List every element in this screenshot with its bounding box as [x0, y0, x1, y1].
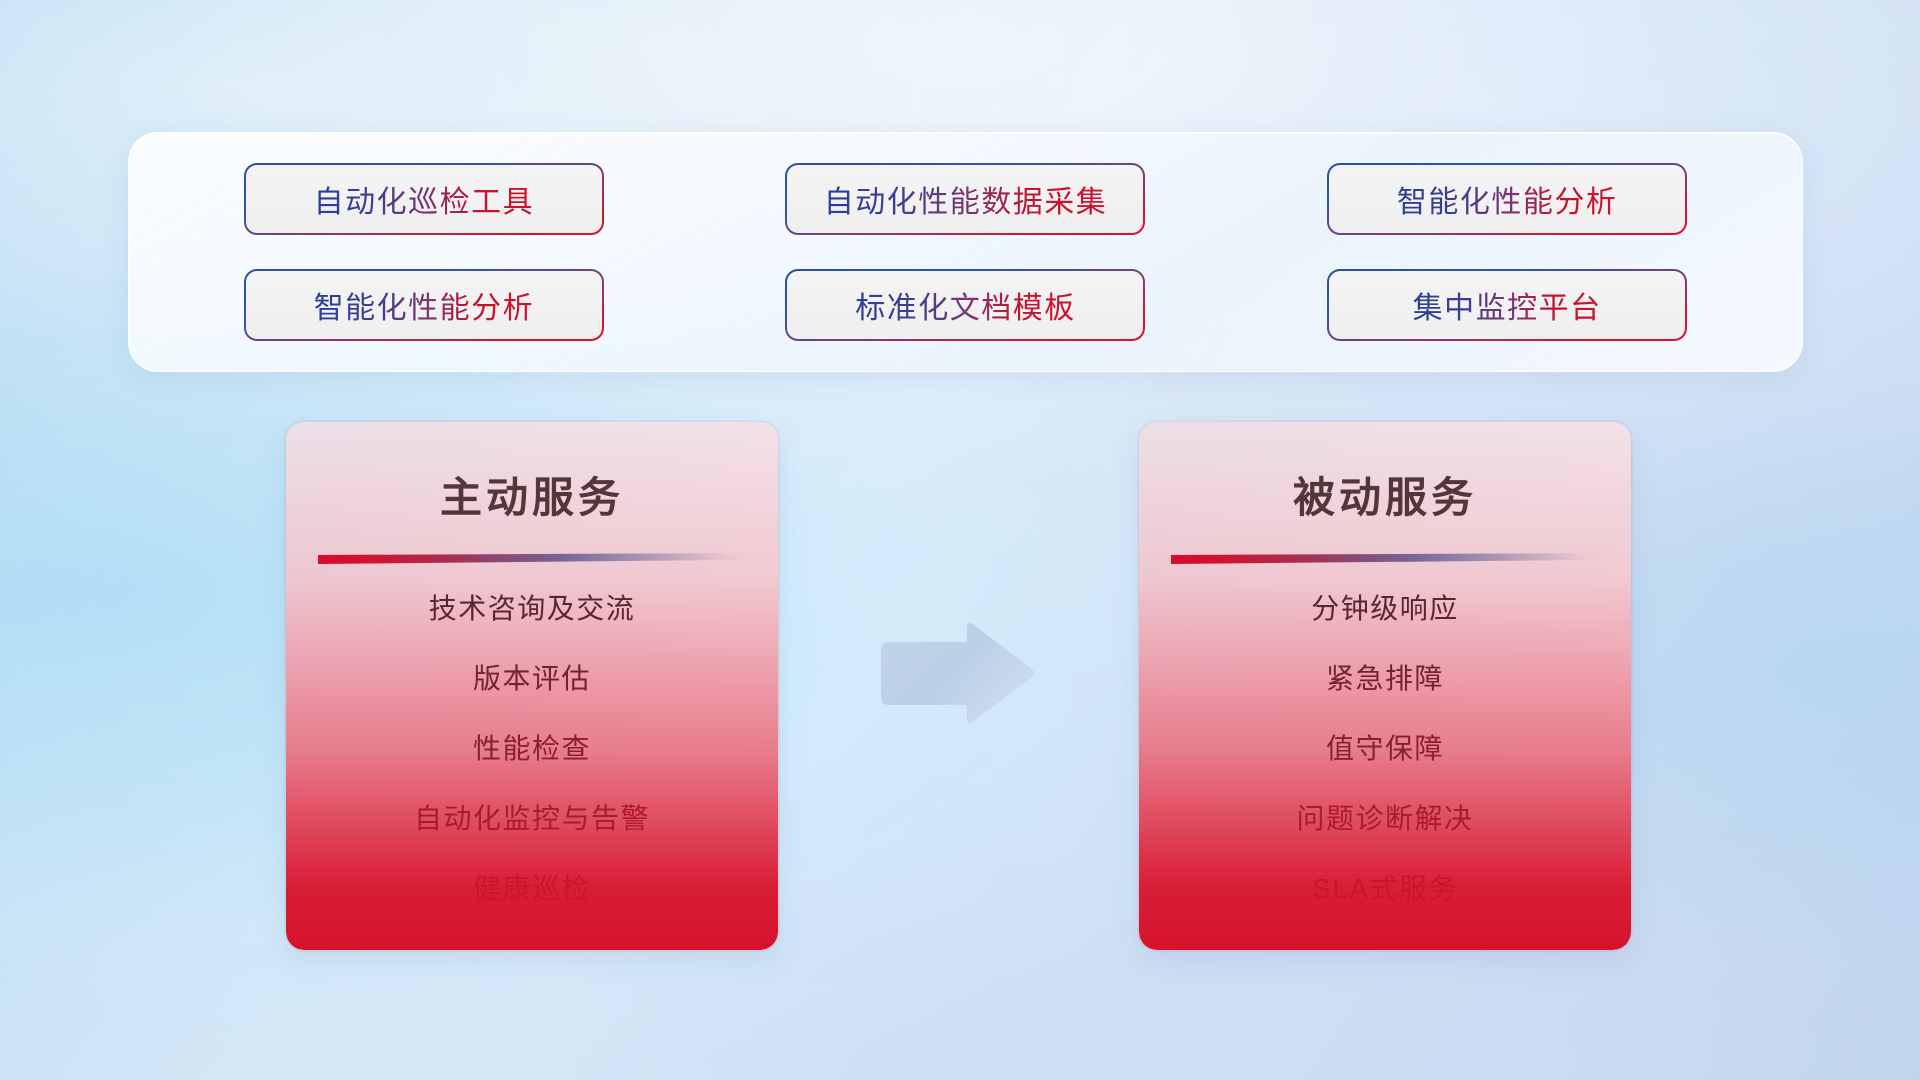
service-card-reactive: 被动服务 分钟级响应 紧急排障 值守保障 问题诊断解决 SLA式服务 — [1139, 422, 1631, 950]
capability-pill-6[interactable]: 集中监控平台 — [1329, 271, 1685, 339]
capability-pill-label: 自动化性能数据采集 — [824, 177, 1108, 221]
list-item: SLA式服务 — [1312, 854, 1458, 924]
list-item: 技术咨询及交流 — [429, 574, 636, 644]
list-item: 健康巡检 — [473, 854, 591, 924]
card-divider — [316, 543, 748, 560]
gradient-rule-icon — [1171, 553, 1603, 564]
capability-pill-3[interactable]: 智能化性能分析 — [1329, 165, 1685, 233]
service-card-proactive: 主动服务 技术咨询及交流 版本评估 性能检查 自动化监控与告警 健康巡检 — [286, 422, 778, 950]
list-item: 性能检查 — [473, 714, 591, 784]
list-item: 分钟级响应 — [1311, 574, 1459, 644]
list-item: 自动化监控与告警 — [414, 784, 650, 854]
capability-pill-label: 标准化文档模板 — [855, 283, 1076, 327]
capability-pill-label: 自动化巡检工具 — [314, 177, 535, 221]
capabilities-panel: 自动化巡检工具 自动化性能数据采集 智能化性能分析 智能化性能分析 标准化文档模… — [128, 132, 1803, 372]
capability-pill-5[interactable]: 标准化文档模板 — [787, 271, 1143, 339]
list-item: 版本评估 — [473, 644, 591, 714]
card-item-list: 技术咨询及交流 版本评估 性能检查 自动化监控与告警 健康巡检 — [316, 574, 748, 924]
list-item: 紧急排障 — [1326, 644, 1444, 714]
card-content: 被动服务 分钟级响应 紧急排障 值守保障 问题诊断解决 SLA式服务 — [1139, 422, 1631, 950]
card-title: 主动服务 — [440, 464, 624, 525]
capability-pill-1[interactable]: 自动化巡检工具 — [246, 165, 602, 233]
card-title: 被动服务 — [1293, 464, 1477, 525]
card-item-list: 分钟级响应 紧急排障 值守保障 问题诊断解决 SLA式服务 — [1169, 574, 1601, 924]
capability-pill-label: 智能化性能分析 — [314, 283, 535, 327]
list-item: 问题诊断解决 — [1296, 784, 1473, 854]
list-item: 值守保障 — [1326, 714, 1444, 784]
capability-pill-label: 集中监控平台 — [1413, 283, 1602, 327]
arrow-right-icon — [875, 620, 1037, 728]
capability-pill-2[interactable]: 自动化性能数据采集 — [787, 165, 1143, 233]
card-divider — [1169, 543, 1601, 560]
capability-pill-label: 智能化性能分析 — [1397, 177, 1618, 221]
gradient-rule-icon — [318, 553, 750, 564]
card-content: 主动服务 技术咨询及交流 版本评估 性能检查 自动化监控与告警 健康巡检 — [286, 422, 778, 950]
capability-pill-4[interactable]: 智能化性能分析 — [246, 271, 602, 339]
